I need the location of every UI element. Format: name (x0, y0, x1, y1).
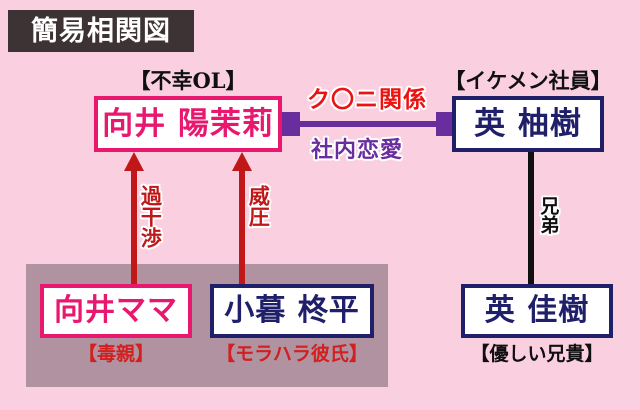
tag-himari: 【不幸OL】 (94, 70, 282, 91)
node-label: 向井ママ (54, 296, 178, 326)
node-mukai-mama[interactable]: 向井ママ (40, 284, 192, 338)
edge-label-kyodai: 兄弟 (538, 196, 557, 234)
node-hanabusa-yoshiki[interactable]: 英 佳樹 (461, 284, 613, 338)
edge-label-kakansho: 過干渉 (140, 185, 161, 248)
node-label: 英 柚樹 (474, 109, 582, 140)
tag-mama: 【毒親】 (40, 345, 192, 364)
node-hanabusa-yuzuki[interactable]: 英 柚樹 (452, 96, 604, 152)
edge-label-kuni-kankei: ク〇ニ関係 (307, 88, 427, 111)
node-label: 向井 陽茉莉 (102, 109, 274, 140)
page-title: 簡易相関図 (31, 18, 171, 45)
node-label: 小暮 柊平 (224, 296, 359, 326)
tag-yoshiki: 【優しい兄貴】 (455, 345, 619, 364)
node-label: 英 佳樹 (485, 296, 589, 326)
edge-yuzuki-yoshiki (528, 152, 534, 286)
tag-kogure: 【モラハラ彼氏】 (202, 345, 382, 364)
node-kogure-shuhei[interactable]: 小暮 柊平 (210, 284, 374, 338)
tag-yuzuki: 【イケメン社員】 (440, 70, 616, 91)
node-mukai-himari[interactable]: 向井 陽茉莉 (94, 96, 282, 152)
edge-label-shanai-renai: 社内恋愛 (311, 139, 403, 161)
correlation-diagram: 簡易相関図 (0, 0, 640, 410)
edge-himari-yuzuki (282, 112, 454, 136)
edge-label-iatsu: 威圧 (248, 185, 269, 227)
diagram-title-banner: 簡易相関図 (8, 10, 194, 52)
